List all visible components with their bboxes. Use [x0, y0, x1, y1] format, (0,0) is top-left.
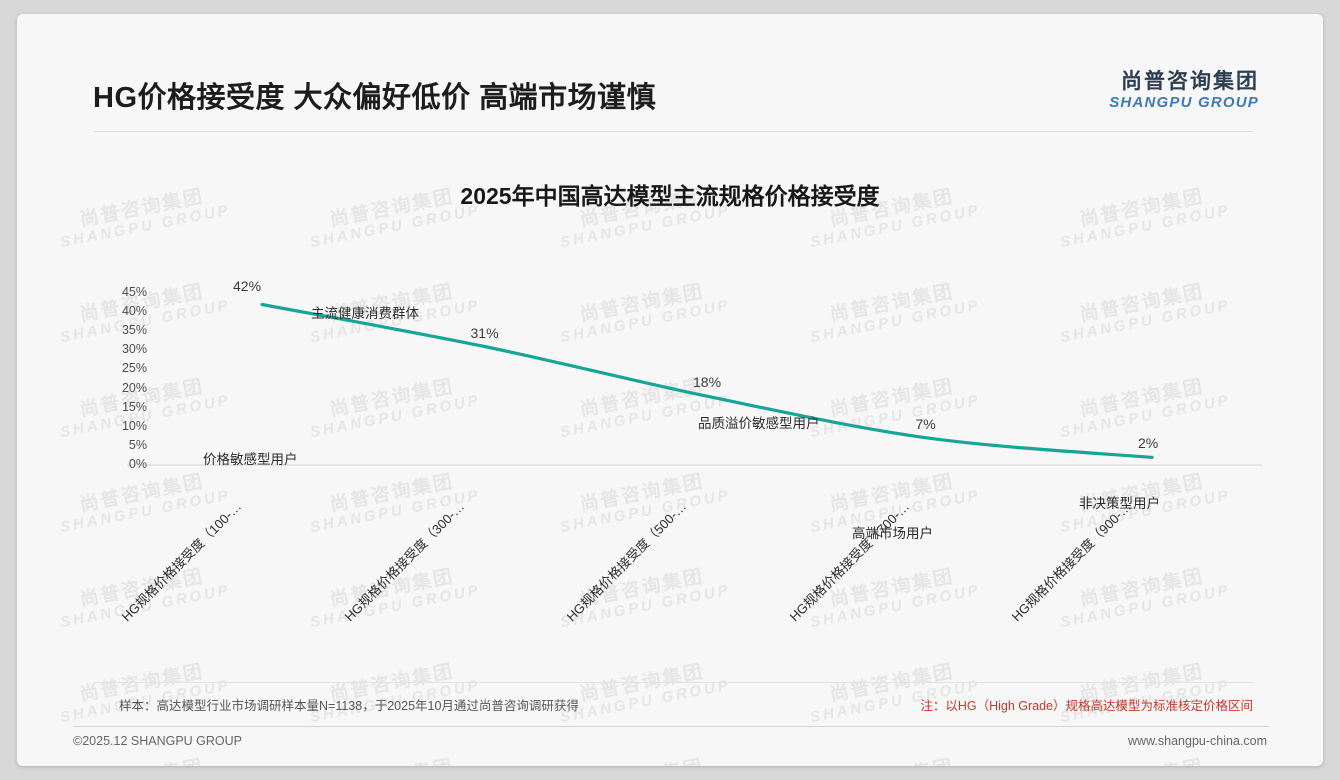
y-axis-tick: 0%	[101, 457, 147, 471]
notes-divider	[93, 682, 1253, 683]
brand-name-cn: 尚普咨询集团	[1109, 70, 1259, 94]
sample-note: 样本：高达模型行业市场调研样本量N=1138，于2025年10月通过尚普咨询调研…	[119, 695, 579, 714]
slide: 尚普咨询集团SHANGPU GROUP尚普咨询集团SHANGPU GROUP尚普…	[17, 14, 1323, 766]
data-label: 18%	[693, 374, 721, 390]
chart-svg	[17, 14, 1323, 766]
chart-annotation: 品质溢价敏感型用户	[698, 412, 820, 432]
brand-name-en: SHANGPU GROUP	[1109, 94, 1259, 112]
y-axis-tick: 35%	[101, 323, 147, 337]
y-axis-tick: 10%	[101, 419, 147, 433]
chart-annotation: 价格敏感型用户	[203, 448, 298, 468]
data-label: 31%	[471, 325, 499, 341]
footer-copyright: ©2025.12 SHANGPU GROUP	[73, 734, 242, 748]
y-axis-tick: 15%	[101, 400, 147, 414]
chart-title: 2025年中国高达模型主流规格价格接受度	[17, 177, 1323, 211]
footer-divider	[73, 726, 1269, 727]
remark-note: 注：以HG（High Grade）规格高达模型为标准核定价格区间	[920, 695, 1253, 714]
data-label: 42%	[233, 278, 261, 294]
line-chart: 45%40%35%30%25%20%15%10%5%0%42%31%18%7%2…	[17, 14, 1323, 766]
y-axis-tick: 30%	[101, 342, 147, 356]
data-label: 2%	[1138, 435, 1158, 451]
page-title: HG价格接受度 大众偏好低价 高端市场谨慎	[93, 74, 656, 116]
brand-logo: 尚普咨询集团 SHANGPU GROUP	[1109, 70, 1259, 112]
y-axis-tick: 25%	[101, 361, 147, 375]
notes-bar: 样本：高达模型行业市场调研样本量N=1138，于2025年10月通过尚普咨询调研…	[93, 682, 1253, 722]
footer-website: www.shangpu-china.com	[1128, 734, 1267, 748]
slide-header: HG价格接受度 大众偏好低价 高端市场谨慎 尚普咨询集团 SHANGPU GRO…	[17, 14, 1323, 124]
chart-annotation: 主流健康消费群体	[311, 302, 419, 322]
y-axis-tick: 45%	[101, 285, 147, 299]
y-axis-tick: 40%	[101, 304, 147, 318]
data-label: 7%	[916, 416, 936, 432]
y-axis-tick: 5%	[101, 438, 147, 452]
y-axis-tick: 20%	[101, 381, 147, 395]
header-divider	[93, 131, 1253, 132]
